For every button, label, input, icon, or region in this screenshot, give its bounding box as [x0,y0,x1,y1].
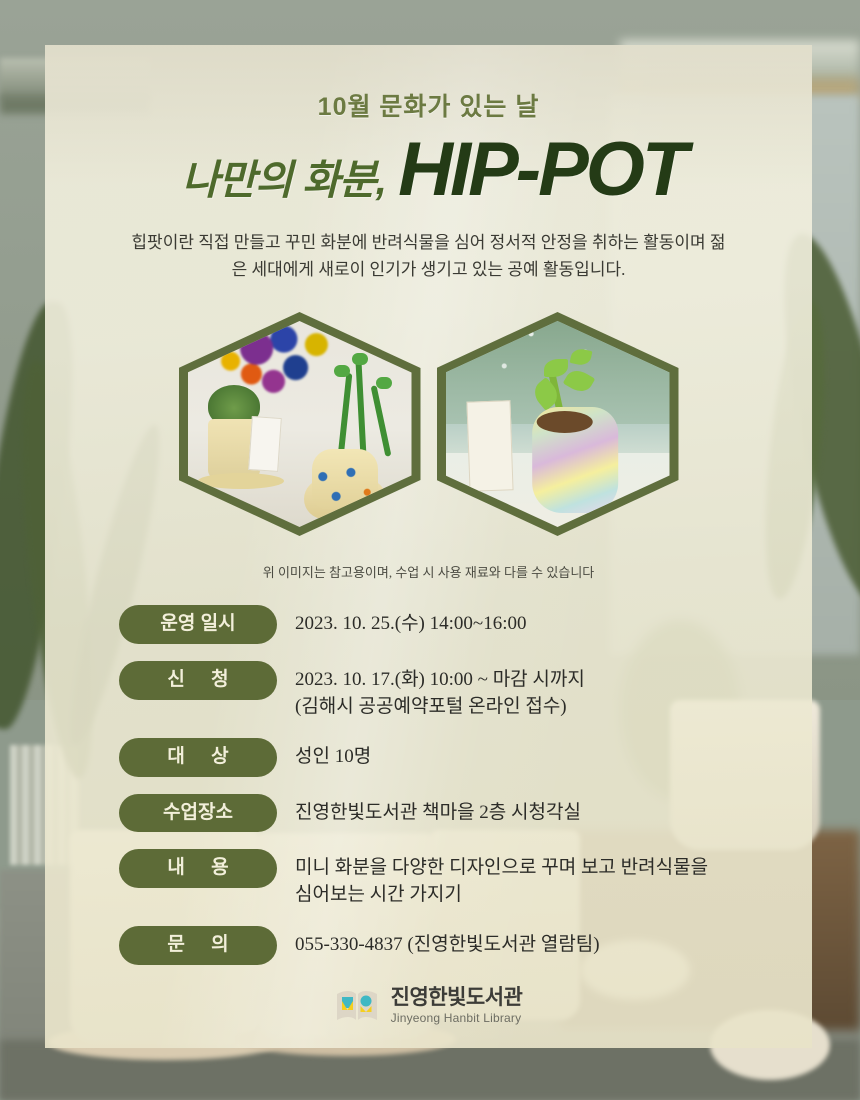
info-row: 운영 일시 2023. 10. 25.(수) 14:00~16:00 [119,605,812,644]
info-label-inquiry: 문 의 [119,926,277,965]
info-value-content: 미니 화분을 다양한 디자인으로 꾸며 보고 반려식물을 심어보는 시간 가지기 [295,849,708,909]
title-korean: 나만의 화분, [182,160,386,201]
info-label-schedule: 운영 일시 [119,605,277,644]
info-label-application: 신 청 [119,661,277,700]
info-value-schedule: 2023. 10. 25.(수) 14:00~16:00 [295,605,526,638]
library-logo: 진영한빛도서관 Jinyeong Hanbit Library [45,987,812,1024]
info-label-location: 수업장소 [119,794,277,833]
hex-photo-left [179,312,421,536]
open-book-icon [335,989,379,1023]
title-english: HIP-POT [398,135,685,205]
info-value-inquiry: 055-330-4837 (진영한빛도서관 열람팀) [295,926,600,959]
info-row: 수업장소 진영한빛도서관 책마을 2층 시청각실 [119,794,812,833]
library-name-english: Jinyeong Hanbit Library [391,1012,523,1024]
info-value-application: 2023. 10. 17.(화) 10:00 ~ 마감 시까지 (김해시 공공예… [295,661,585,721]
poster-title: 나만의 화분, HIP-POT [45,135,812,205]
info-table: 운영 일시 2023. 10. 25.(수) 14:00~16:00 신 청 2… [45,605,812,965]
poster-kicker: 10월 문화가 있는 날 [45,45,812,123]
image-disclaimer: 위 이미지는 참고용이며, 수업 시 사용 재료와 다를 수 있습니다 [45,562,812,581]
info-row: 신 청 2023. 10. 17.(화) 10:00 ~ 마감 시까지 (김해시… [119,661,812,721]
info-row: 내 용 미니 화분을 다양한 디자인으로 꾸며 보고 반려식물을 심어보는 시간… [119,849,812,909]
info-label-content: 내 용 [119,849,277,888]
info-value-location: 진영한빛도서관 책마을 2층 시청각실 [295,794,581,827]
hex-photo-right [437,312,679,536]
poster-card: 10월 문화가 있는 날 나만의 화분, HIP-POT 힙팟이란 직접 만들고… [45,45,812,1048]
info-row: 대 상 성인 10명 [119,738,812,777]
photo-gallery [45,312,812,536]
info-row: 문 의 055-330-4837 (진영한빛도서관 열람팀) [119,926,812,965]
info-value-audience: 성인 10명 [295,738,371,771]
library-name-korean: 진영한빛도서관 [391,987,523,1008]
poster-description: 힙팟이란 직접 만들고 꾸민 화분에 반려식물을 심어 정서적 안정을 취하는 … [129,229,729,284]
info-label-audience: 대 상 [119,738,277,777]
